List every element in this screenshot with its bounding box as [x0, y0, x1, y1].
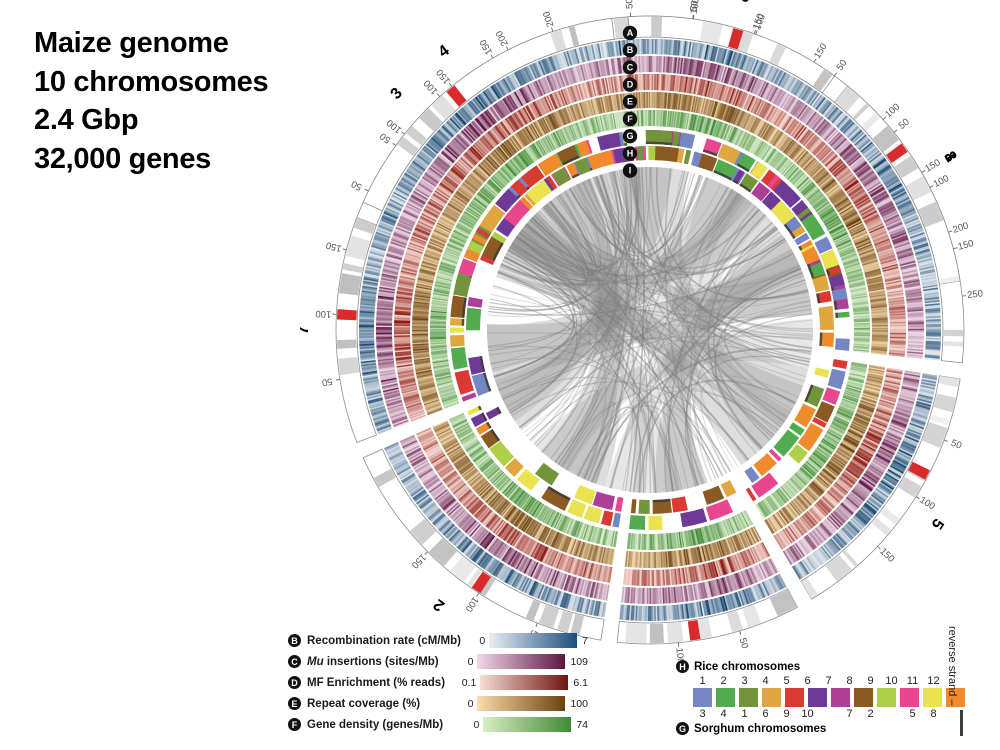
rice-chr-number: 4	[755, 675, 776, 687]
legend-max-f: 74	[576, 719, 588, 731]
track-label-f: F	[623, 112, 637, 126]
svg-text:E: E	[627, 97, 633, 107]
svg-text:200: 200	[494, 29, 511, 48]
svg-text:150: 150	[478, 37, 495, 56]
legend-row: E Repeat coverage (%) 0 100	[288, 693, 588, 714]
svg-text:3: 3	[387, 85, 406, 103]
svg-text:50: 50	[624, 0, 636, 9]
sorghum-legend-title: Sorghum chromosomes	[694, 723, 826, 735]
legend-max-b: 7	[582, 635, 588, 647]
legend-gradient-e	[477, 696, 565, 711]
reverse-strand-bar	[960, 710, 963, 736]
rice-chr-number: 10	[881, 675, 902, 687]
svg-text:50: 50	[949, 438, 963, 452]
legend-gradient-c	[477, 654, 565, 669]
svg-text:H: H	[627, 148, 634, 158]
svg-text:50: 50	[834, 58, 849, 73]
track-label-b: B	[623, 43, 637, 57]
svg-text:2: 2	[430, 595, 447, 614]
chr-color-swatch	[899, 687, 920, 708]
svg-text:6: 6	[739, 0, 752, 7]
sorghum-chr-number: 7	[839, 708, 860, 720]
legend-max-e: 100	[570, 698, 588, 710]
track-badge-b: B	[288, 634, 301, 647]
legend-species-chromosomes: H Rice chromosomes 123456789101112 34169…	[676, 658, 976, 737]
legend-max-d: 6.1	[573, 677, 588, 689]
legend-label-d: MF Enrichment (% reads)	[307, 677, 458, 689]
track-label-e: E	[623, 95, 637, 109]
svg-text:A: A	[627, 28, 634, 38]
reverse-strand-label: reverse strand –	[946, 626, 958, 705]
sorghum-chr-number: 5	[902, 708, 923, 720]
legend-row: B Recombination rate (cM/Mb) 0 7	[288, 630, 588, 651]
svg-text:4: 4	[435, 42, 452, 61]
track-badge-c: C	[288, 655, 301, 668]
chr-color-swatch	[692, 687, 713, 708]
legend-gradient-d	[480, 675, 568, 690]
chromosome-color-swatches	[692, 687, 976, 708]
legend-tracks: B Recombination rate (cM/Mb) 0 7 C Mu in…	[288, 630, 588, 735]
legend-min-f: 0	[461, 719, 479, 731]
sorghum-chr-number: 3	[692, 708, 713, 720]
synteny-ribbons	[487, 167, 813, 493]
circos-plot: 5010015020050100150501001502002505010015…	[300, 0, 1000, 660]
svg-text:250: 250	[967, 288, 984, 301]
rice-chr-number: 12	[923, 675, 944, 687]
chr-color-swatch	[784, 687, 805, 708]
svg-text:5: 5	[927, 515, 946, 532]
species-color-key: 123456789101112 34169107258	[692, 675, 976, 720]
svg-text:100: 100	[385, 117, 404, 135]
rice-chr-number: 5	[776, 675, 797, 687]
svg-text:150: 150	[325, 239, 343, 254]
legend-label-b: Recombination rate (cM/Mb)	[307, 635, 466, 647]
chr-color-swatch	[807, 687, 828, 708]
sorghum-chr-number: 2	[860, 708, 881, 720]
svg-text:C: C	[627, 62, 634, 72]
svg-text:50: 50	[378, 130, 393, 145]
circos-genome-figure: Maize genome 10 chromosomes 2.4 Gbp 32,0…	[0, 0, 1000, 750]
svg-text:150: 150	[434, 67, 453, 86]
title-line-1: Maize genome	[34, 24, 268, 63]
chr-color-swatch	[715, 687, 736, 708]
svg-text:50: 50	[897, 117, 912, 132]
svg-text:F: F	[627, 114, 633, 124]
rice-legend-header: H Rice chromosomes	[676, 658, 976, 675]
title-line-4: 32,000 genes	[34, 140, 268, 179]
svg-text:100: 100	[315, 308, 331, 320]
chr-color-swatch	[761, 687, 782, 708]
track-badge-d: D	[288, 676, 301, 689]
rice-chr-number: 8	[839, 675, 860, 687]
svg-text:200: 200	[951, 220, 969, 235]
chr-color-swatch	[830, 687, 851, 708]
track-label-a: A	[623, 26, 637, 40]
svg-text:B: B	[627, 45, 634, 55]
svg-text:100: 100	[918, 495, 937, 513]
reverse-strand-key: reverse strand –	[952, 626, 992, 736]
rice-chr-number: 7	[818, 675, 839, 687]
rice-chr-number: 6	[797, 675, 818, 687]
sorghum-chr-number: 6	[755, 708, 776, 720]
sorghum-chr-number: 10	[797, 708, 818, 720]
svg-text:50: 50	[737, 637, 751, 650]
chr-color-swatch	[853, 687, 874, 708]
legend-gradient-f	[483, 717, 571, 732]
svg-text:50: 50	[321, 375, 333, 388]
svg-text:G: G	[626, 131, 633, 141]
svg-text:8: 8	[940, 149, 959, 165]
legend-gradient-b	[489, 633, 577, 648]
chr-color-swatch	[876, 687, 897, 708]
legend-min-e: 0	[456, 698, 474, 710]
rice-chr-number: 3	[734, 675, 755, 687]
svg-text:200: 200	[541, 10, 556, 28]
sorghum-chr-number: 9	[776, 708, 797, 720]
svg-text:150: 150	[923, 157, 942, 174]
sorghum-chr-number: 4	[713, 708, 734, 720]
chr-color-swatch	[738, 687, 759, 708]
rice-legend-title: Rice chromosomes	[694, 661, 800, 673]
legend-row: D MF Enrichment (% reads) 0.1 6.1	[288, 672, 588, 693]
legend-label-c: Mu insertions (sites/Mb)	[307, 656, 456, 668]
svg-text:150: 150	[812, 42, 830, 61]
figure-title-block: Maize genome 10 chromosomes 2.4 Gbp 32,0…	[34, 24, 268, 178]
legend-row: F Gene density (genes/Mb) 0 74	[288, 714, 588, 735]
sorghum-chr-number: 8	[923, 708, 944, 720]
legend-label-e: Repeat coverage (%)	[307, 698, 456, 710]
sorghum-chr-number	[818, 708, 839, 720]
track-badge-f: F	[288, 718, 301, 731]
svg-text:100: 100	[463, 594, 481, 613]
track-badge-g: G	[676, 722, 689, 735]
track-label-h: H	[623, 146, 637, 160]
legend-min-c: 0	[456, 656, 474, 668]
track-badge-e: E	[288, 697, 301, 710]
title-line-3: 2.4 Gbp	[34, 101, 268, 140]
track-label-d: D	[623, 77, 637, 91]
svg-text:150: 150	[957, 238, 975, 253]
chr-color-swatch	[922, 687, 943, 708]
rice-chromosome-numbers: 123456789101112	[692, 675, 976, 687]
svg-text:100: 100	[932, 173, 951, 190]
sorghum-chr-number: 1	[734, 708, 755, 720]
svg-text:I: I	[629, 165, 632, 175]
legend-min-b: 0	[466, 635, 485, 647]
rice-chr-number: 9	[860, 675, 881, 687]
legend-label-f: Gene density (genes/Mb)	[307, 719, 461, 731]
track-label-c: C	[623, 60, 637, 74]
svg-text:50: 50	[688, 0, 700, 12]
sorghum-chr-number	[881, 708, 902, 720]
svg-text:50: 50	[350, 178, 364, 193]
track-badge-h: H	[676, 660, 689, 673]
sorghum-legend-header: G Sorghum chromosomes	[676, 720, 976, 737]
title-line-2: 10 chromosomes	[34, 63, 268, 102]
sorghum-chromosome-numbers: 34169107258	[692, 708, 976, 720]
rice-chr-number: 2	[713, 675, 734, 687]
track-label-i: I	[623, 163, 637, 177]
rice-chr-number: 1	[692, 675, 713, 687]
svg-text:D: D	[627, 79, 634, 89]
track-letter-labels: ABCDEFGHI	[623, 26, 637, 178]
legend-row: C Mu insertions (sites/Mb) 0 109	[288, 651, 588, 672]
legend-max-c: 109	[570, 656, 588, 668]
svg-text:7: 7	[300, 325, 312, 334]
track-label-g: G	[623, 129, 637, 143]
rice-chr-number: 11	[902, 675, 923, 687]
legend-min-d: 0.1	[458, 677, 476, 689]
